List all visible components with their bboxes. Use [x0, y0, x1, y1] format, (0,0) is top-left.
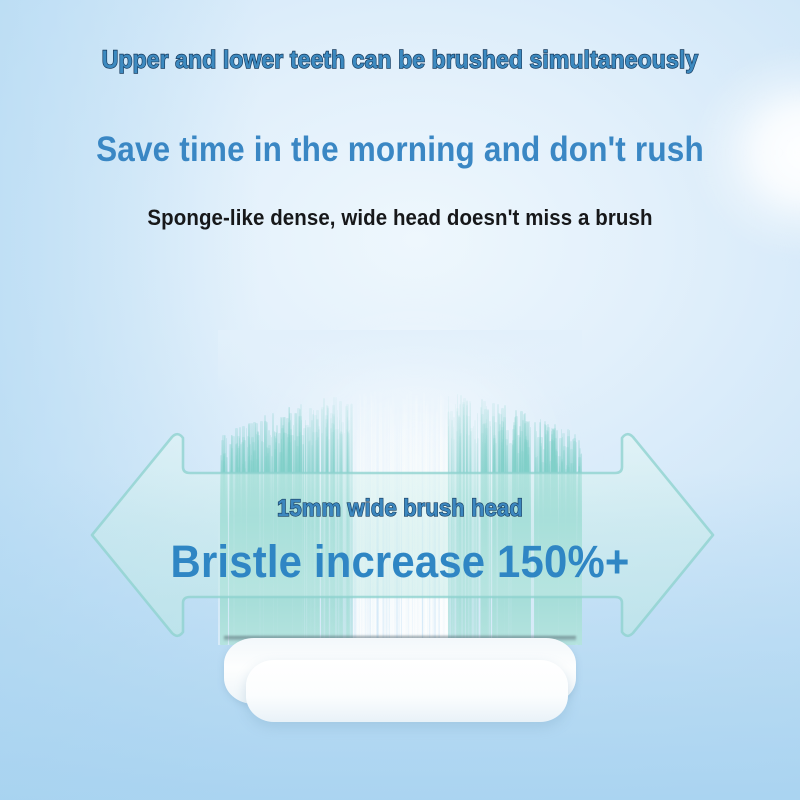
headline-secondary: Save time in the morning and don't rush	[40, 130, 760, 170]
product-banner: Upper and lower teeth can be brushed sim…	[0, 0, 800, 800]
callout-bristle-increase: Bristle increase 150%+	[28, 536, 772, 588]
brush-head-front	[246, 660, 568, 722]
headline-tertiary: Sponge-like dense, wide head doesn't mis…	[28, 205, 772, 231]
callout-brush-width: 15mm wide brush head	[32, 495, 768, 523]
headline-primary: Upper and lower teeth can be brushed sim…	[32, 46, 768, 75]
bristle-top-fade	[218, 330, 582, 392]
double-headed-arrow	[70, 415, 735, 655]
